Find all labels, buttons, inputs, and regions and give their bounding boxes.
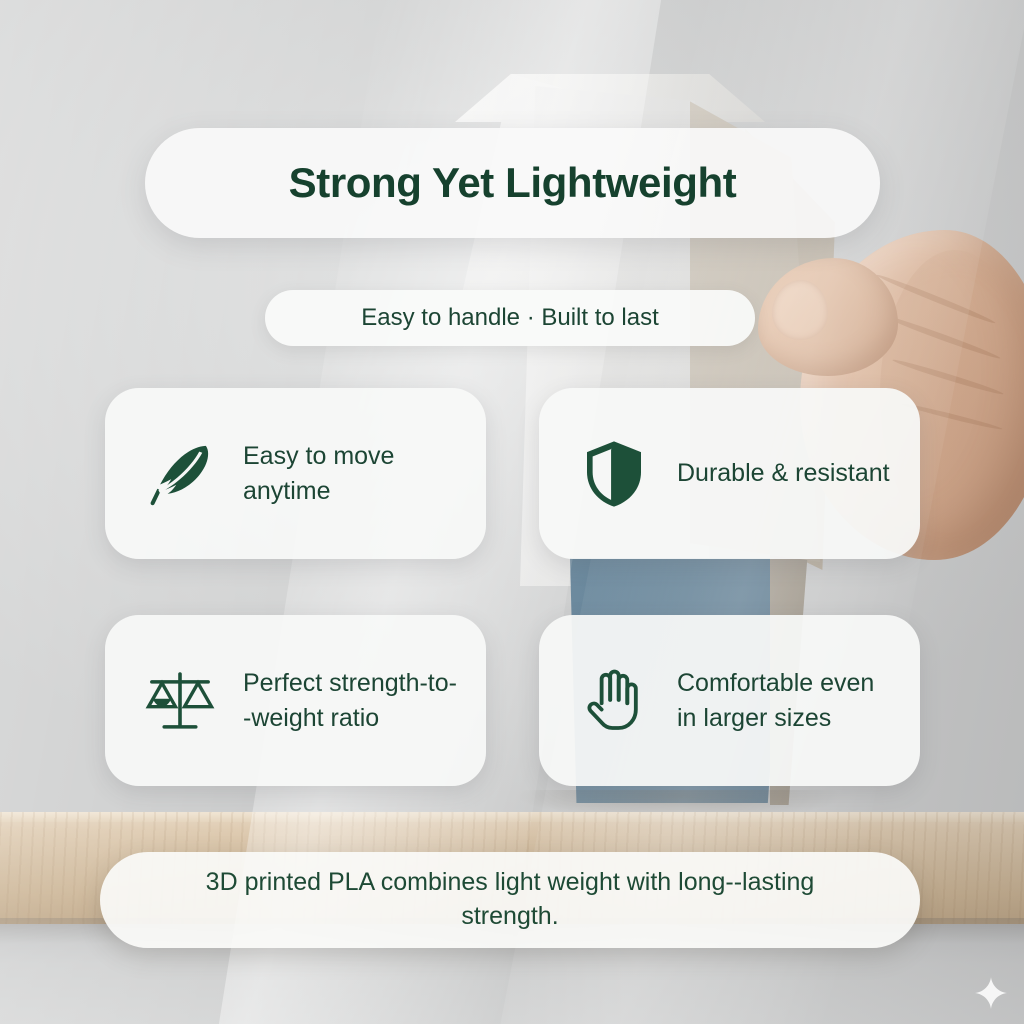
feature-grid: Easy to move anytime Durable & resistant <box>105 388 920 786</box>
footer-caption: 3D printed PLA combines light weight wit… <box>160 866 860 934</box>
feature-label: Perfect strength-to--weight ratio <box>243 666 460 735</box>
feature-label: Easy to move anytime <box>243 439 460 508</box>
feather-icon <box>143 437 217 511</box>
shield-icon <box>577 437 651 511</box>
page-title: Strong Yet Lightweight <box>289 159 737 207</box>
sparkle-icon <box>974 976 1008 1010</box>
feature-card-easy-to-move[interactable]: Easy to move anytime <box>105 388 486 559</box>
open-hand-icon <box>577 664 651 738</box>
footer-caption-pill: 3D printed PLA combines light weight wit… <box>100 852 920 948</box>
subtitle-pill: Easy to handle · Built to last <box>265 290 755 346</box>
feature-label: Comfortable even in larger sizes <box>677 666 894 735</box>
feature-label: Durable & resistant <box>677 456 890 491</box>
title-pill: Strong Yet Lightweight <box>145 128 880 238</box>
page-subtitle: Easy to handle · Built to last <box>361 304 659 332</box>
feature-card-durable[interactable]: Durable & resistant <box>539 388 920 559</box>
overlay-ui: Strong Yet Lightweight Easy to handle · … <box>0 0 1024 1024</box>
feature-card-comfortable[interactable]: Comfortable even in larger sizes <box>539 615 920 786</box>
scales-icon <box>143 664 217 738</box>
feature-card-strength-to-weight[interactable]: Perfect strength-to--weight ratio <box>105 615 486 786</box>
